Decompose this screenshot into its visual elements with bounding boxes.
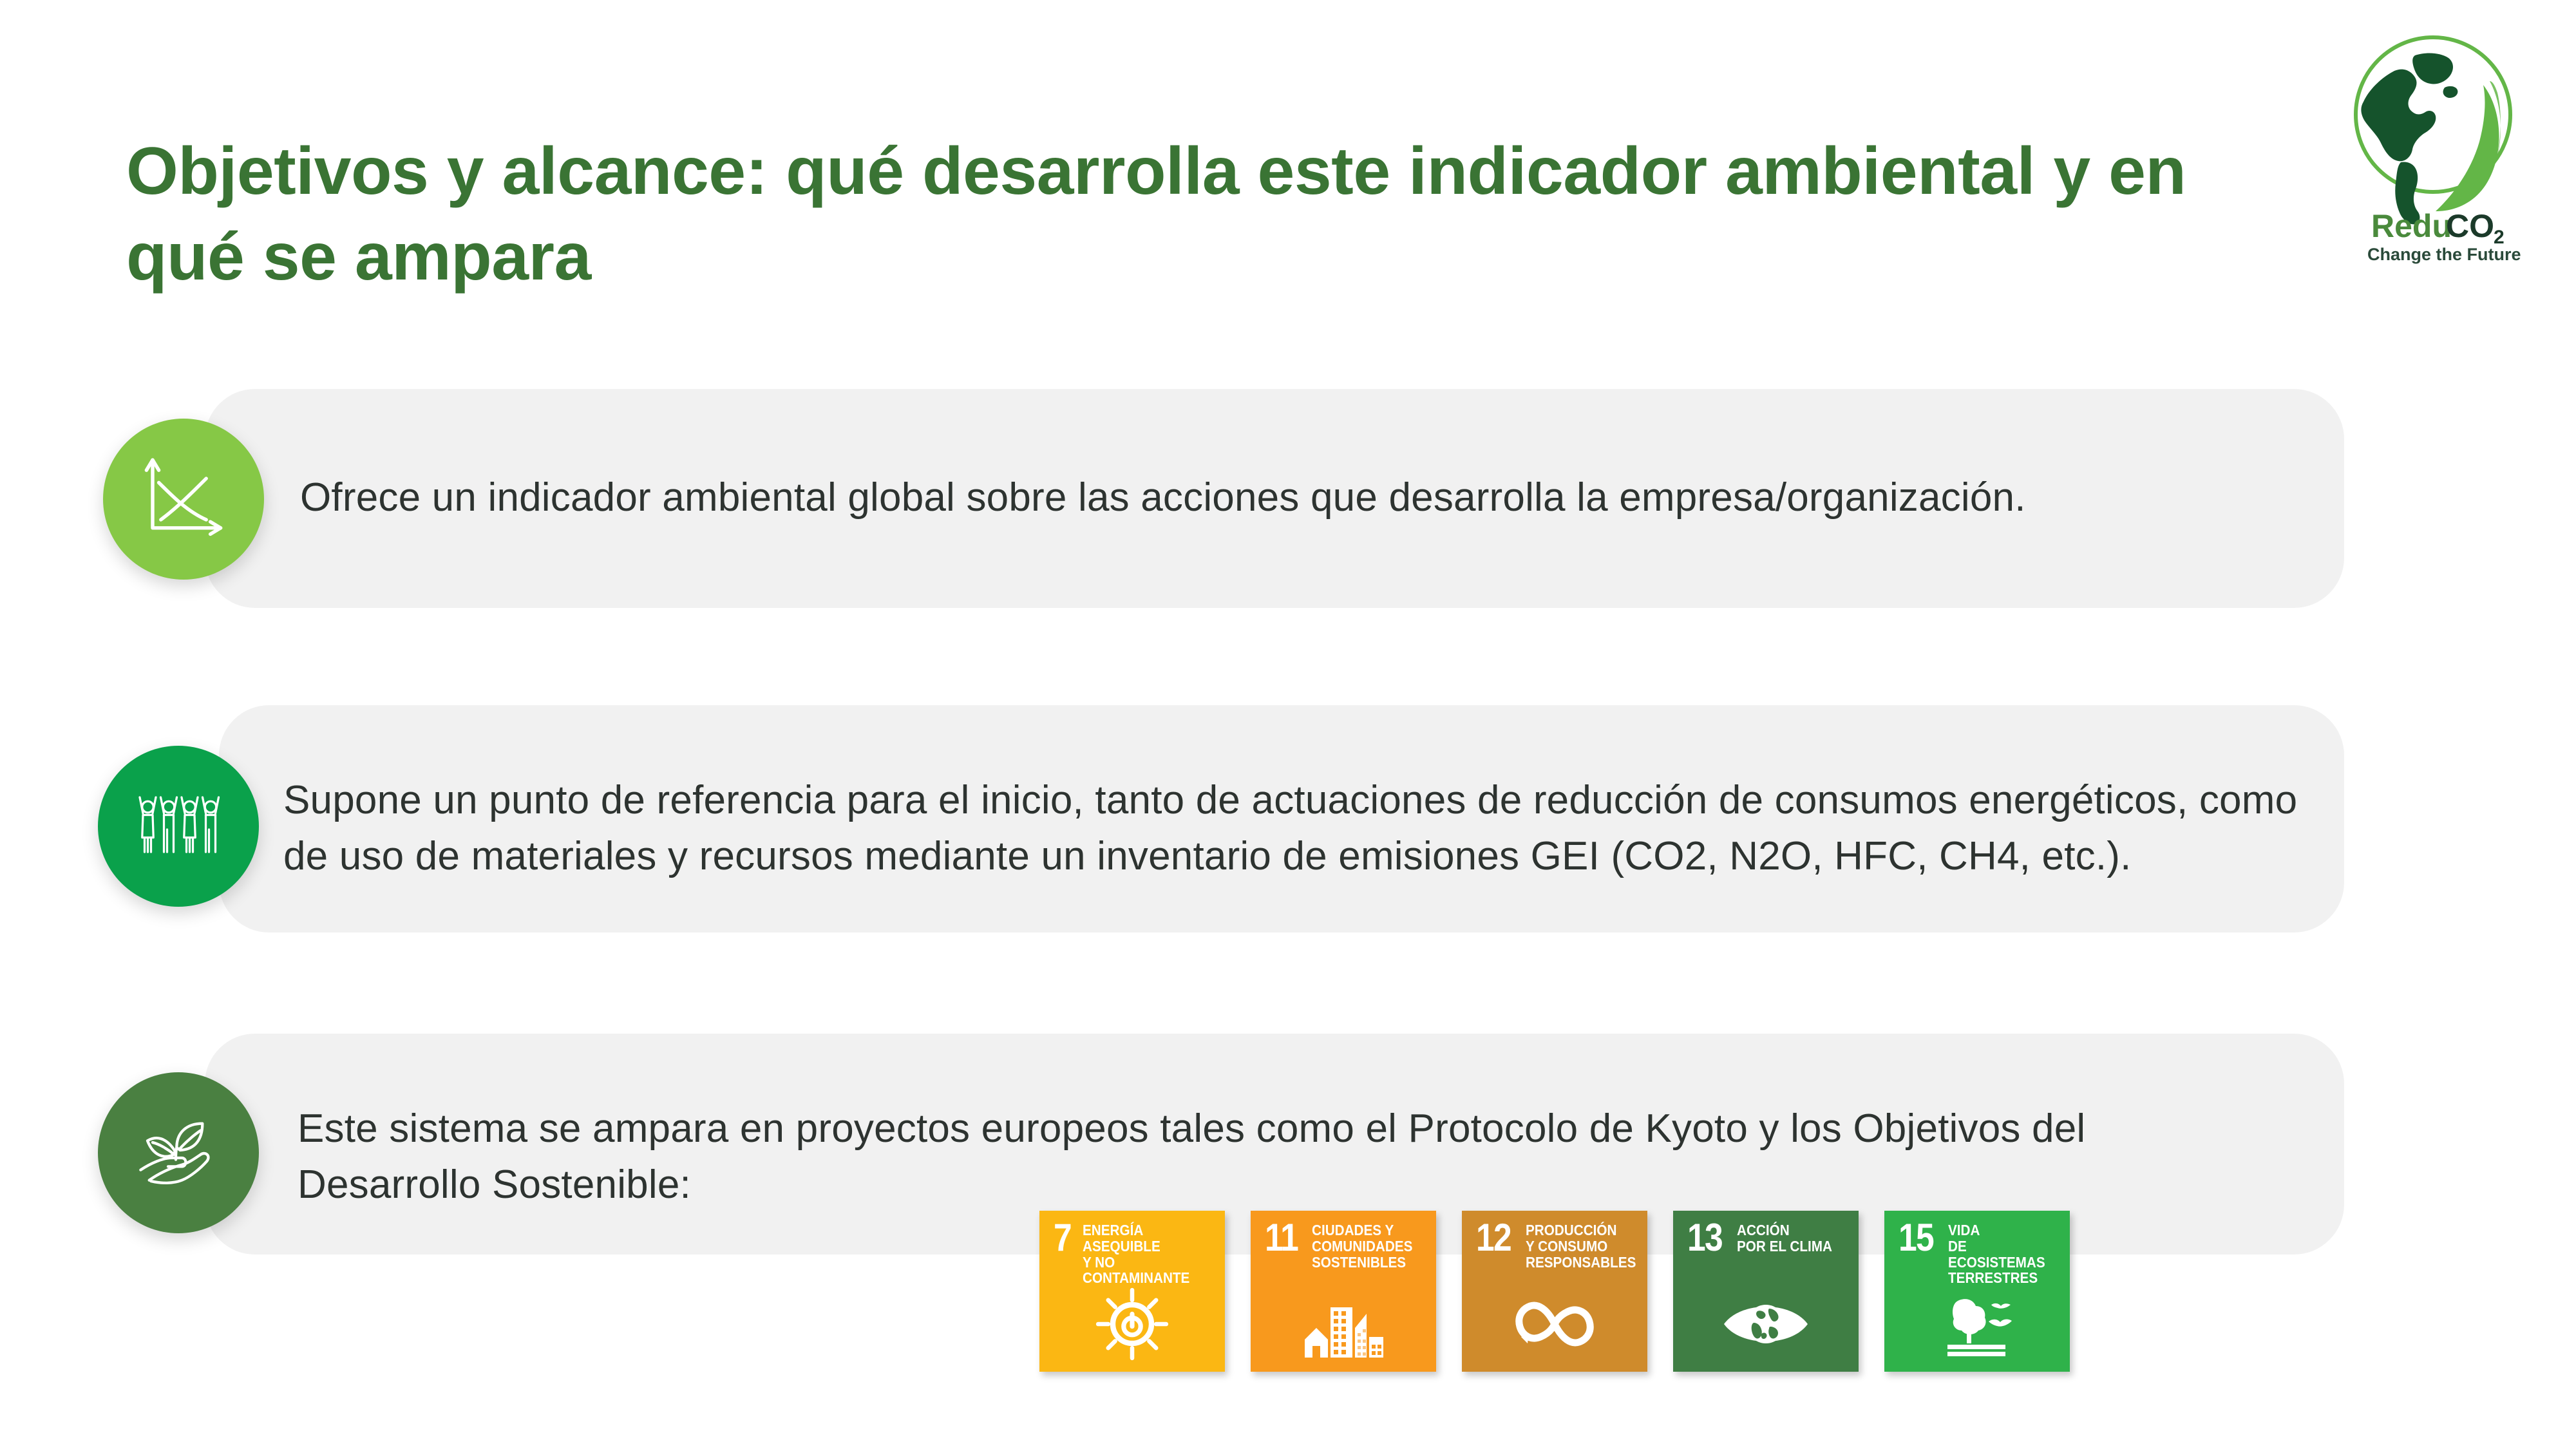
sdg-badge-13[interactable]: 13 ACCIÓN POR EL CLIMA bbox=[1673, 1211, 1859, 1372]
city-buildings-icon bbox=[1251, 1285, 1436, 1363]
sdg-badge-13-number: 13 bbox=[1687, 1221, 1722, 1255]
sdg-badge-strip: 7 ENERGÍA ASEQUIBLE Y NO CONTAMINANTE bbox=[1039, 1211, 2070, 1372]
sdg-badge-7-head: 7 ENERGÍA ASEQUIBLE Y NO CONTAMINANTE bbox=[1039, 1211, 1225, 1286]
hand-sprout-icon bbox=[98, 1072, 259, 1233]
content-text-2: Supone un punto de referencia para el in… bbox=[283, 773, 2318, 885]
slide-root: Objetivos y alcance: qué desarrolla este… bbox=[0, 0, 2576, 1449]
content-text-1: Ofrece un indicador ambiental global sob… bbox=[300, 470, 2297, 526]
sdg-badge-13-label: ACCIÓN POR EL CLIMA bbox=[1737, 1222, 1832, 1255]
sdg-badge-12-head: 12 PRODUCCIÓN Y CONSUMO RESPONSABLES bbox=[1462, 1211, 1647, 1270]
eye-globe-icon bbox=[1673, 1285, 1859, 1363]
sdg-badge-12-label: PRODUCCIÓN Y CONSUMO RESPONSABLES bbox=[1526, 1222, 1636, 1270]
globe-icon bbox=[2361, 53, 2458, 225]
sdg-badge-15[interactable]: 15 VIDA DE ECOSISTEMAS TERRESTRES bbox=[1884, 1211, 2070, 1372]
infinity-loop-icon bbox=[1462, 1285, 1647, 1363]
sdg-badge-12[interactable]: 12 PRODUCCIÓN Y CONSUMO RESPONSABLES bbox=[1462, 1211, 1647, 1372]
sdg-badge-12-number: 12 bbox=[1476, 1221, 1511, 1255]
logo-wordmark-redu: Redu bbox=[2371, 208, 2452, 244]
people-group-icon bbox=[98, 746, 259, 907]
sdg-badge-15-number: 15 bbox=[1899, 1221, 1933, 1255]
sdg-badge-11-label: CIUDADES Y COMUNIDADES SOSTENIBLES bbox=[1312, 1222, 1412, 1270]
logo-tagline: Change the Future bbox=[2367, 245, 2521, 264]
sdg-badge-7-label: ENERGÍA ASEQUIBLE Y NO CONTAMINANTE bbox=[1083, 1222, 1211, 1286]
sdg-badge-11-number: 11 bbox=[1265, 1221, 1298, 1255]
sdg-badge-11[interactable]: 11 CIUDADES Y COMUNIDADES SOSTENIBLES bbox=[1251, 1211, 1436, 1372]
sdg-badge-11-head: 11 CIUDADES Y COMUNIDADES SOSTENIBLES bbox=[1251, 1211, 1436, 1270]
sdg-badge-15-label: VIDA DE ECOSISTEMAS TERRESTRES bbox=[1948, 1222, 2058, 1286]
sdg-badge-7-number: 7 bbox=[1054, 1221, 1071, 1255]
logo-wordmark-co: CO bbox=[2446, 208, 2494, 244]
sdg-badge-15-head: 15 VIDA DE ECOSISTEMAS TERRESTRES bbox=[1884, 1211, 2070, 1286]
tree-birds-icon bbox=[1884, 1285, 2070, 1363]
sdg-badge-7[interactable]: 7 ENERGÍA ASEQUIBLE Y NO CONTAMINANTE bbox=[1039, 1211, 1225, 1372]
sun-power-icon bbox=[1039, 1285, 1225, 1363]
page-title: Objetivos y alcance: qué desarrolla este… bbox=[126, 129, 2245, 300]
line-chart-icon bbox=[103, 419, 264, 580]
content-text-3: Este sistema se ampara en proyectos euro… bbox=[298, 1101, 2165, 1213]
redu-co2-logo: Redu CO 2 Change the Future bbox=[2325, 26, 2557, 267]
sdg-badge-13-head: 13 ACCIÓN POR EL CLIMA bbox=[1673, 1211, 1859, 1255]
